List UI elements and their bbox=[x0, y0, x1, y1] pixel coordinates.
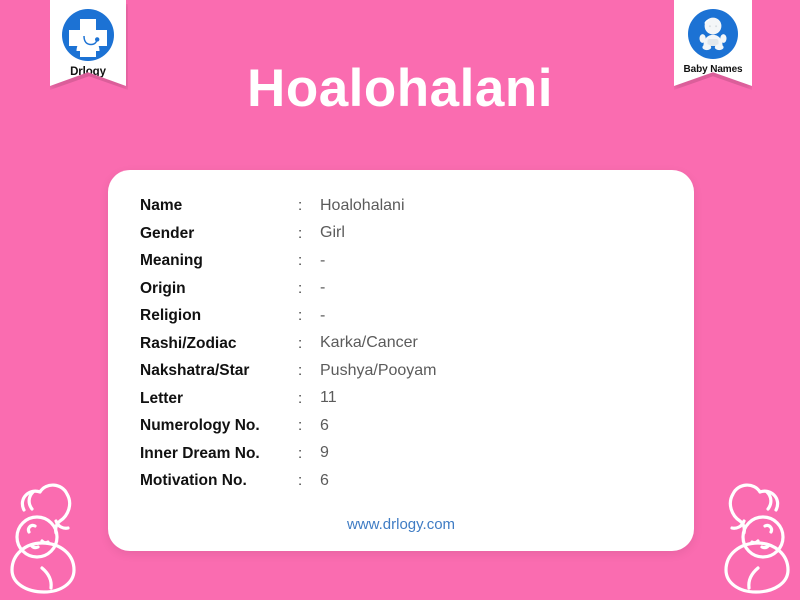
row-value: 6 bbox=[320, 412, 610, 440]
table-row: Nakshatra/Star:Pushya/Pooyam bbox=[140, 357, 610, 385]
row-separator: : bbox=[298, 275, 320, 303]
row-value: - bbox=[320, 302, 610, 330]
name-details-card: Name:HoalohalaniGender:GirlMeaning:-Orig… bbox=[108, 170, 694, 551]
row-label: Numerology No. bbox=[140, 412, 298, 440]
row-separator: : bbox=[298, 330, 320, 358]
table-body: Name:HoalohalaniGender:GirlMeaning:-Orig… bbox=[140, 192, 610, 495]
baby-badge-icon bbox=[688, 9, 738, 59]
table-row: Numerology No.:6 bbox=[140, 412, 610, 440]
row-label: Name bbox=[140, 192, 298, 220]
page-title: Hoalohalani bbox=[0, 62, 800, 115]
row-label: Religion bbox=[140, 302, 298, 330]
row-label: Motivation No. bbox=[140, 467, 298, 495]
row-value: Karka/Cancer bbox=[320, 330, 610, 358]
name-details-table: Name:HoalohalaniGender:GirlMeaning:-Orig… bbox=[140, 192, 610, 495]
table-row: Gender:Girl bbox=[140, 220, 610, 248]
row-value: - bbox=[320, 247, 610, 275]
row-value: 6 bbox=[320, 467, 610, 495]
row-separator: : bbox=[298, 385, 320, 413]
row-label: Origin bbox=[140, 275, 298, 303]
table-row: Origin:- bbox=[140, 275, 610, 303]
row-separator: : bbox=[298, 440, 320, 468]
table-row: Inner Dream No.:9 bbox=[140, 440, 610, 468]
table-row: Meaning:- bbox=[140, 247, 610, 275]
doctor-badge-icon bbox=[62, 9, 114, 61]
row-separator: : bbox=[298, 412, 320, 440]
row-label: Nakshatra/Star bbox=[140, 357, 298, 385]
row-label: Rashi/Zodiac bbox=[140, 330, 298, 358]
row-separator: : bbox=[298, 357, 320, 385]
row-value: Girl bbox=[320, 220, 610, 248]
row-separator: : bbox=[298, 247, 320, 275]
row-separator: : bbox=[298, 302, 320, 330]
table-row: Letter:11 bbox=[140, 385, 610, 413]
row-label: Letter bbox=[140, 385, 298, 413]
row-value: 11 bbox=[320, 385, 610, 413]
row-value: Pushya/Pooyam bbox=[320, 357, 610, 385]
table-row: Name:Hoalohalani bbox=[140, 192, 610, 220]
row-value: Hoalohalani bbox=[320, 192, 610, 220]
site-url-link[interactable]: www.drlogy.com bbox=[108, 516, 694, 533]
mother-baby-icon-left bbox=[0, 475, 108, 600]
table-row: Religion:- bbox=[140, 302, 610, 330]
row-value: 9 bbox=[320, 440, 610, 468]
row-label: Gender bbox=[140, 220, 298, 248]
row-separator: : bbox=[298, 467, 320, 495]
mother-baby-icon-right bbox=[692, 475, 800, 600]
table-row: Motivation No.:6 bbox=[140, 467, 610, 495]
row-label: Inner Dream No. bbox=[140, 440, 298, 468]
row-separator: : bbox=[298, 220, 320, 248]
row-label: Meaning bbox=[140, 247, 298, 275]
row-value: - bbox=[320, 275, 610, 303]
row-separator: : bbox=[298, 192, 320, 220]
table-row: Rashi/Zodiac:Karka/Cancer bbox=[140, 330, 610, 358]
